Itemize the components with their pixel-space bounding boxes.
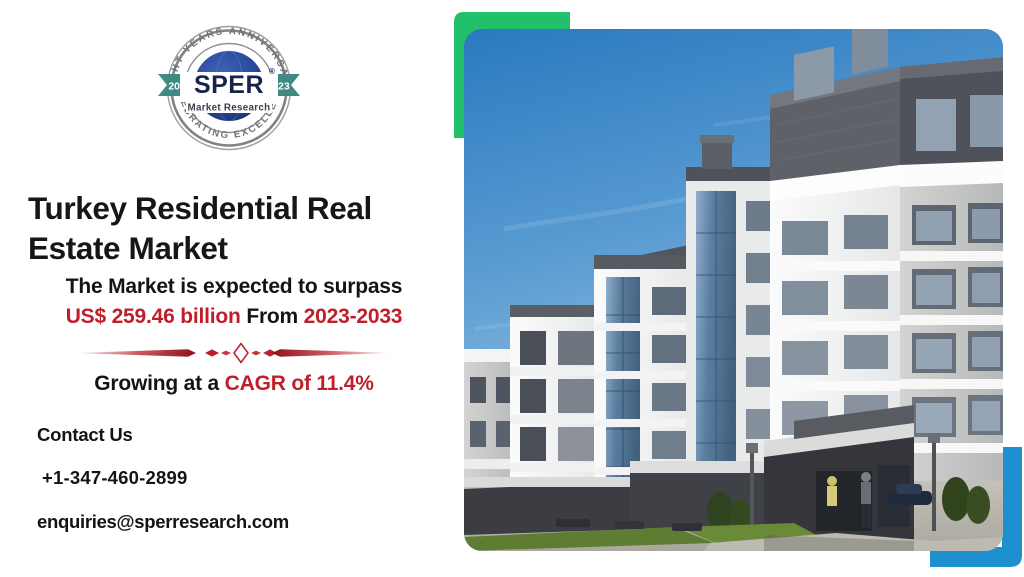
contact-heading: Contact Us — [37, 424, 437, 446]
page-title: Turkey Residential Real Estate Market — [28, 189, 440, 268]
svg-text:SPER: SPER — [194, 71, 264, 99]
ornamental-diamond-divider-icon — [60, 341, 408, 365]
sper-anniversary-badge-icon: EIGHT YEARS ANNIVERSARY CELEBRATING EXCE… — [150, 12, 308, 156]
forecast-period: 2023-2033 — [304, 305, 403, 328]
svg-text:Market Research: Market Research — [188, 103, 271, 114]
hero-photo — [464, 29, 1003, 551]
value-statement-connector: From — [246, 305, 298, 328]
cagr-statement: Growing at a CAGR of 11.4% — [28, 372, 440, 396]
value-statement: The Market is expected to surpass US$ 25… — [28, 272, 440, 332]
contact-phone[interactable]: +1-347-460-2899 — [42, 467, 437, 489]
cagr-prefix: Growing at a — [94, 372, 219, 395]
cagr-value: CAGR of 11.4% — [225, 372, 374, 395]
contact-email[interactable]: enquiries@sperresearch.com — [37, 511, 437, 533]
right-media-panel — [440, 0, 1024, 577]
value-statement-line1: The Market is expected to surpass — [66, 275, 403, 298]
left-content-panel: EIGHT YEARS ANNIVERSARY CELEBRATING EXCE… — [0, 0, 445, 577]
contact-block: Contact Us +1-347-460-2899 enquiries@spe… — [37, 424, 437, 533]
market-value-amount: US$ 259.46 billion — [66, 305, 241, 328]
svg-text:®: ® — [269, 67, 275, 76]
marketing-poster: EIGHT YEARS ANNIVERSARY CELEBRATING EXCE… — [0, 0, 1024, 577]
